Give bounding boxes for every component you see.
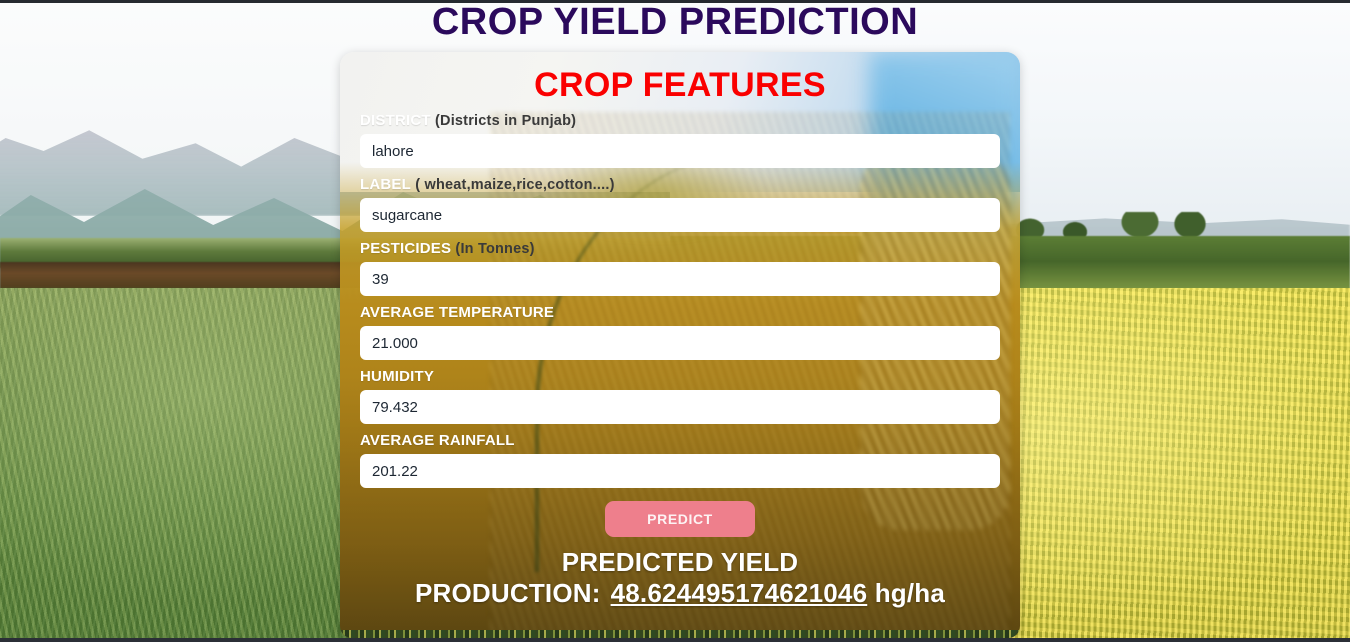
browser-top-strip (0, 0, 1350, 3)
label-humidity-text: HUMIDITY (360, 368, 434, 385)
predict-button[interactable]: PREDICT (605, 501, 755, 537)
label-average-temperature-text: AVERAGE TEMPERATURE (360, 304, 554, 321)
page-title: CROP YIELD PREDICTION (0, 0, 1350, 43)
label-district-hint: (Districts in Punjab) (431, 113, 576, 129)
label-average-temperature: AVERAGE TEMPERATURE (360, 303, 1000, 326)
label-average-rainfall: AVERAGE RAINFALL (360, 431, 1000, 454)
label-label-hint: ( wheat,maize,rice,cotton....) (411, 177, 615, 193)
average-temperature-input[interactable] (360, 326, 1000, 360)
prediction-result-value: 48.624495174621046 (611, 578, 868, 608)
label-input[interactable] (360, 198, 1000, 232)
label-average-rainfall-text: AVERAGE RAINFALL (360, 432, 515, 449)
browser-bottom-strip (0, 638, 1350, 642)
label-humidity: HUMIDITY (360, 367, 1000, 390)
label-pesticides-hint: (In Tonnes) (451, 241, 534, 257)
crop-features-card: CROP FEATURES DISTRICT (Districts in Pun… (340, 52, 1020, 638)
prediction-result-unit: hg/ha (875, 578, 945, 608)
humidity-input[interactable] (360, 390, 1000, 424)
field-group-district: DISTRICT (Districts in Punjab) (360, 111, 1000, 168)
pesticides-input[interactable] (360, 262, 1000, 296)
label-label-text: LABEL (360, 176, 411, 193)
district-input[interactable] (360, 134, 1000, 168)
field-group-average-temperature: AVERAGE TEMPERATURE (360, 303, 1000, 360)
label-district-text: DISTRICT (360, 112, 431, 129)
predict-button-row: PREDICT (360, 501, 1000, 537)
card-content: CROP FEATURES DISTRICT (Districts in Pun… (340, 52, 1020, 638)
field-group-label: LABEL ( wheat,maize,rice,cotton....) (360, 175, 1000, 232)
average-rainfall-input[interactable] (360, 454, 1000, 488)
app-page: CROP YIELD PREDICTION CROP FEATURES DIST… (0, 0, 1350, 642)
label-pesticides: PESTICIDES (In Tonnes) (360, 239, 1000, 262)
card-title: CROP FEATURES (360, 52, 1000, 104)
field-group-pesticides: PESTICIDES (In Tonnes) (360, 239, 1000, 296)
field-group-humidity: HUMIDITY (360, 367, 1000, 424)
field-group-average-rainfall: AVERAGE RAINFALL (360, 431, 1000, 488)
label-label: LABEL ( wheat,maize,rice,cotton....) (360, 175, 1000, 198)
label-district: DISTRICT (Districts in Punjab) (360, 111, 1000, 134)
label-pesticides-text: PESTICIDES (360, 240, 451, 257)
prediction-result: PREDICTED YIELD PRODUCTION:48.6244951746… (360, 547, 1000, 609)
